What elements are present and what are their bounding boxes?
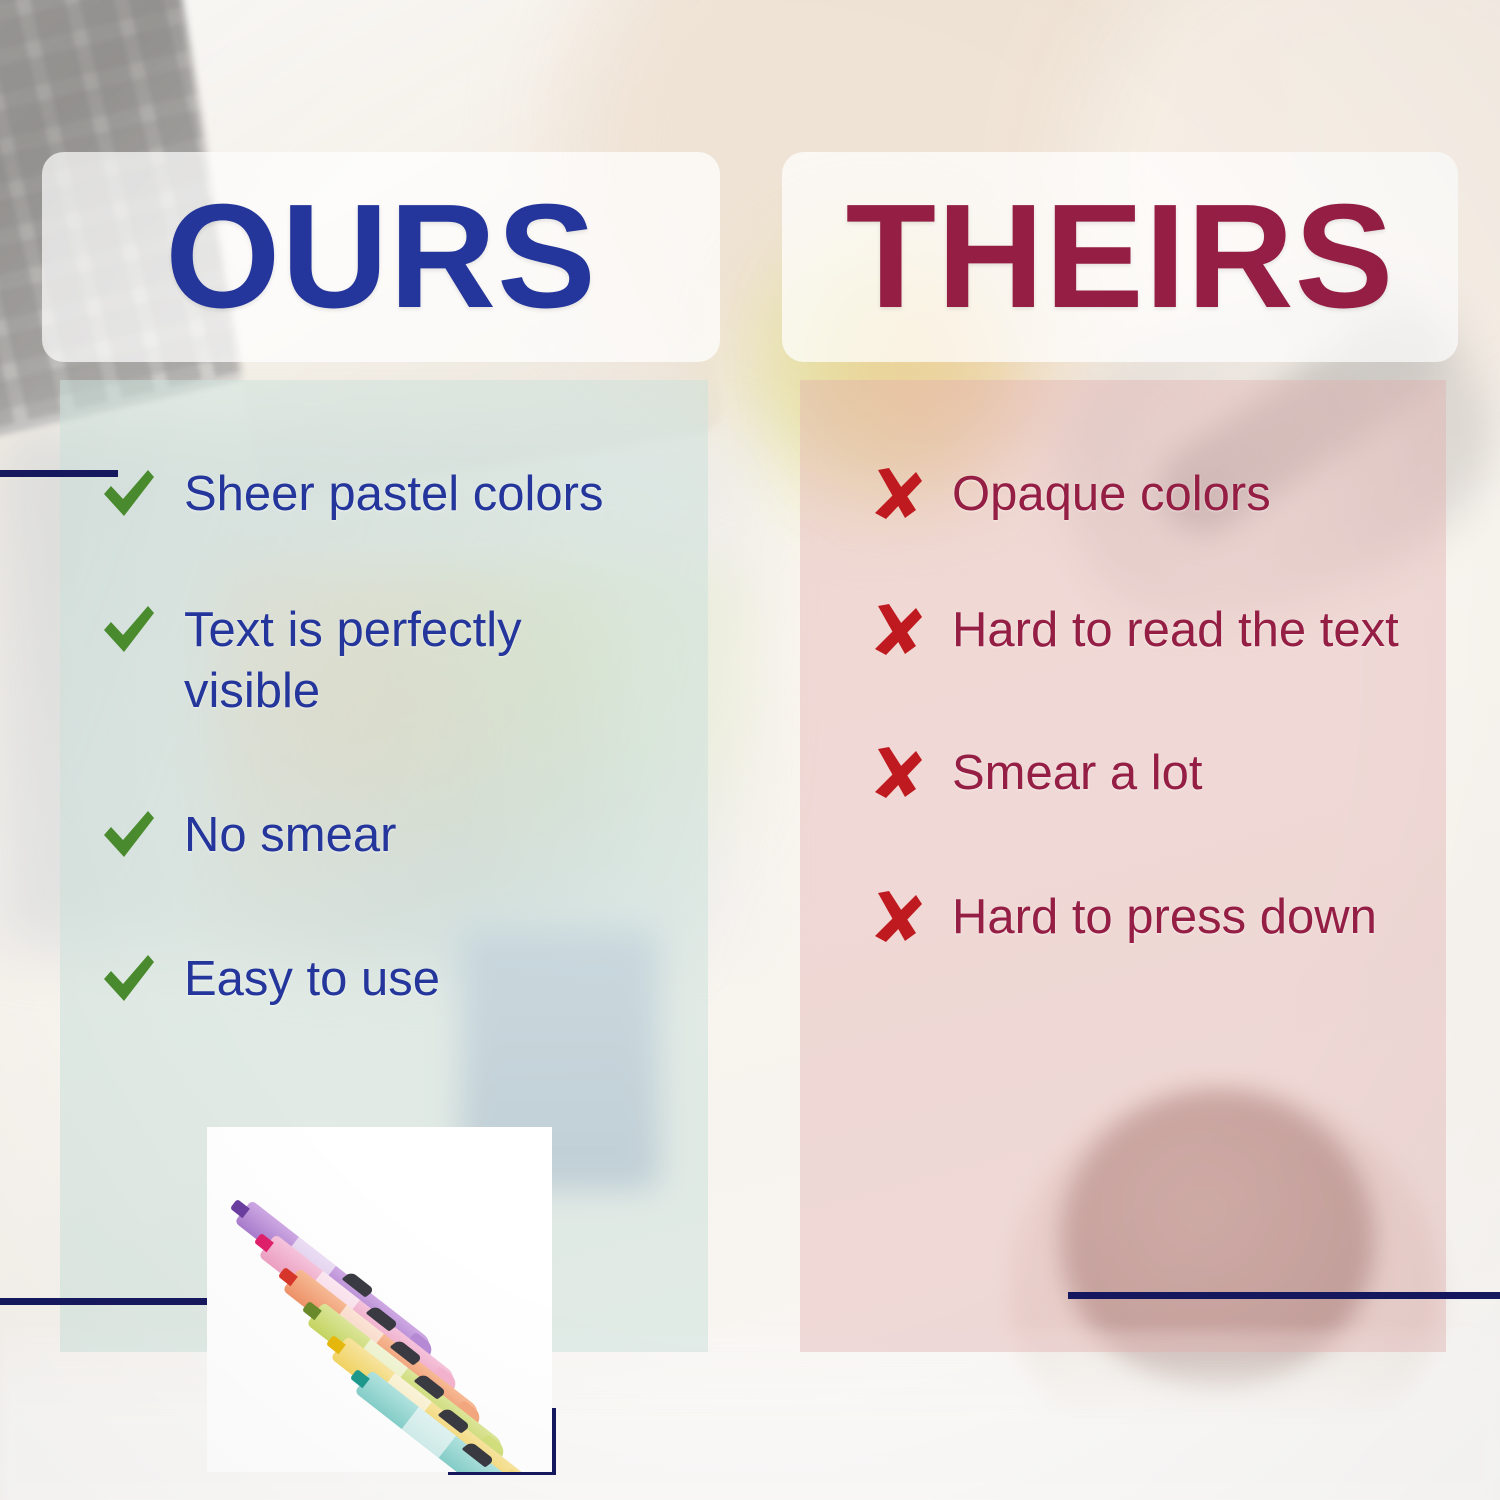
list-item: Text is perfectly visible — [100, 600, 720, 723]
list-item: Opaque colors — [868, 464, 1488, 526]
theirs-title: THEIRS — [846, 183, 1395, 331]
list-item-label: Opaque colors — [952, 464, 1271, 526]
theirs-drawback-list: Opaque colors Hard to read the text Smea… — [868, 380, 1488, 949]
cross-icon — [868, 887, 926, 943]
list-item-label: No smear — [184, 805, 396, 867]
ours-feature-list: Sheer pastel colors Text is perfectly vi… — [100, 380, 720, 1011]
list-item-label: Easy to use — [184, 949, 440, 1011]
ours-header-pill: OURS — [42, 152, 720, 362]
list-item: Hard to read the text — [868, 600, 1488, 662]
list-item: Easy to use — [100, 949, 720, 1011]
product-photo — [207, 1127, 552, 1472]
list-item: No smear — [100, 805, 720, 867]
decor-line-bottom-right — [1068, 1292, 1500, 1299]
list-item-label: Sheer pastel colors — [184, 464, 603, 526]
theirs-header-pill: THEIRS — [782, 152, 1458, 362]
comparison-infographic: OURS THEIRS Sheer pastel colors Text is … — [0, 0, 1500, 1500]
list-item-label: Hard to read the text — [952, 600, 1399, 662]
check-icon — [100, 949, 158, 1005]
list-item: Sheer pastel colors — [100, 464, 720, 526]
list-item: Smear a lot — [868, 743, 1488, 805]
check-icon — [100, 600, 158, 656]
decor-line-top-left — [0, 470, 118, 477]
highlighter-pens-group — [207, 1127, 552, 1472]
ours-title: OURS — [165, 183, 597, 331]
list-item: Hard to press down — [868, 887, 1488, 949]
list-item-label: Smear a lot — [952, 743, 1203, 805]
list-item-label: Text is perfectly visible — [184, 600, 654, 723]
cross-icon — [868, 743, 926, 799]
cross-icon — [868, 464, 926, 520]
check-icon — [100, 805, 158, 861]
list-item-label: Hard to press down — [952, 887, 1377, 949]
cross-icon — [868, 600, 926, 656]
